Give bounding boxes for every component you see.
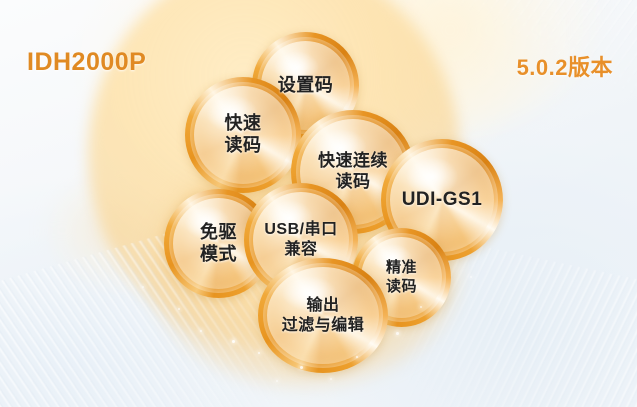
feature-label: USB/串口 兼容 <box>264 220 337 259</box>
feature-label: 精准 读码 <box>386 259 417 296</box>
sparkle-particle <box>232 340 235 343</box>
feature-label: 输出 过滤与编辑 <box>282 296 365 335</box>
page-title: IDH2000P <box>27 48 146 77</box>
feature-bubble-output-filter-edit[interactable]: 输出 过滤与编辑 <box>258 258 388 373</box>
sparkle-particle <box>178 308 180 310</box>
feature-label: 快速连续 读码 <box>318 151 388 192</box>
slide-canvas: IDH2000P 5.0.2版本 设置码 快速 读码 快速连续 读码 UDI-G… <box>0 0 637 407</box>
version-label: 5.0.2版本 <box>517 50 613 82</box>
feature-label: 免驱 模式 <box>200 222 237 266</box>
sparkle-particle <box>470 276 472 278</box>
feature-label: 快速 读码 <box>225 113 262 157</box>
sparkle-particle <box>142 286 144 288</box>
sparkle-particle <box>200 330 202 332</box>
feature-label: UDI-GS1 <box>402 188 483 211</box>
feature-label: 设置码 <box>278 75 334 97</box>
sparkle-particle <box>396 332 399 335</box>
sparkle-particle <box>330 378 332 380</box>
sparkle-particle <box>276 380 278 382</box>
sparkle-particle <box>258 352 260 354</box>
